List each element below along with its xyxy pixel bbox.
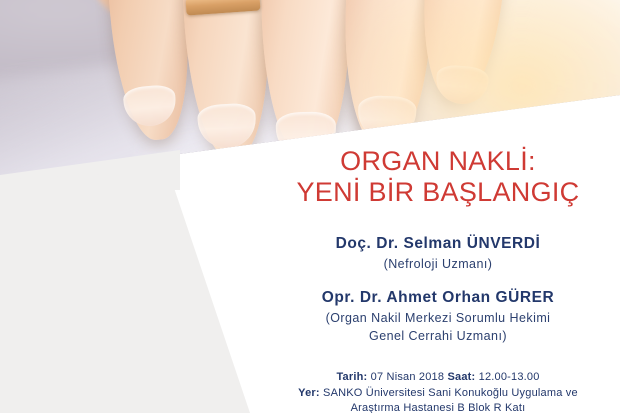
speaker-subtitle-2-line-1: (Organ Nakil Merkezi Sorumlu Hekimi — [256, 310, 620, 326]
date-label: Tarih: — [336, 371, 367, 383]
place-label: Yer: — [298, 387, 320, 399]
speaker-name-1: Doç. Dr. Selman ÜNVERDİ — [256, 234, 620, 254]
event-place-row: Yer: SANKO Üniversitesi Sani Konukoğlu U… — [256, 386, 620, 402]
speaker-name-2: Opr. Dr. Ahmet Orhan GÜRER — [256, 288, 620, 308]
title-line-1: ORGAN NAKLİ: — [340, 146, 536, 176]
grey-panel — [0, 150, 270, 413]
speaker-list: Doç. Dr. Selman ÜNVERDİ (Nefroloji Uzman… — [256, 234, 620, 344]
time-value: 12.00-13.00 — [479, 371, 540, 383]
speaker-block-2: Opr. Dr. Ahmet Orhan GÜRER (Organ Nakil … — [256, 288, 620, 344]
title-line-2: YENİ BİR BAŞLANGIÇ — [256, 177, 620, 208]
page-title: ORGAN NAKLİ: YENİ BİR BAŞLANGIÇ — [256, 146, 620, 208]
place-line-2: Araştırma Hastanesi B Blok R Katı — [351, 402, 526, 413]
event-details: Tarih: 07 Nisan 2018 Saat: 12.00-13.00 Y… — [256, 370, 620, 413]
event-datetime-row: Tarih: 07 Nisan 2018 Saat: 12.00-13.00 — [256, 370, 620, 386]
time-label: Saat: — [447, 371, 475, 383]
event-place-row-2: Araştırma Hastanesi B Blok R Katı — [256, 401, 620, 413]
speaker-subtitle-1-line-1: (Nefroloji Uzmanı) — [256, 256, 620, 272]
event-poster: ORGAN NAKLİ: YENİ BİR BAŞLANGIÇ Doç. Dr.… — [0, 0, 620, 413]
place-line-1: SANKO Üniversitesi Sani Konukoğlu Uygula… — [323, 387, 578, 399]
speaker-subtitle-2-line-2: Genel Cerrahi Uzmanı) — [256, 328, 620, 344]
date-value: 07 Nisan 2018 — [371, 371, 445, 383]
poster-content: ORGAN NAKLİ: YENİ BİR BAŞLANGIÇ Doç. Dr.… — [256, 96, 620, 413]
speaker-block-1: Doç. Dr. Selman ÜNVERDİ (Nefroloji Uzman… — [256, 234, 620, 272]
